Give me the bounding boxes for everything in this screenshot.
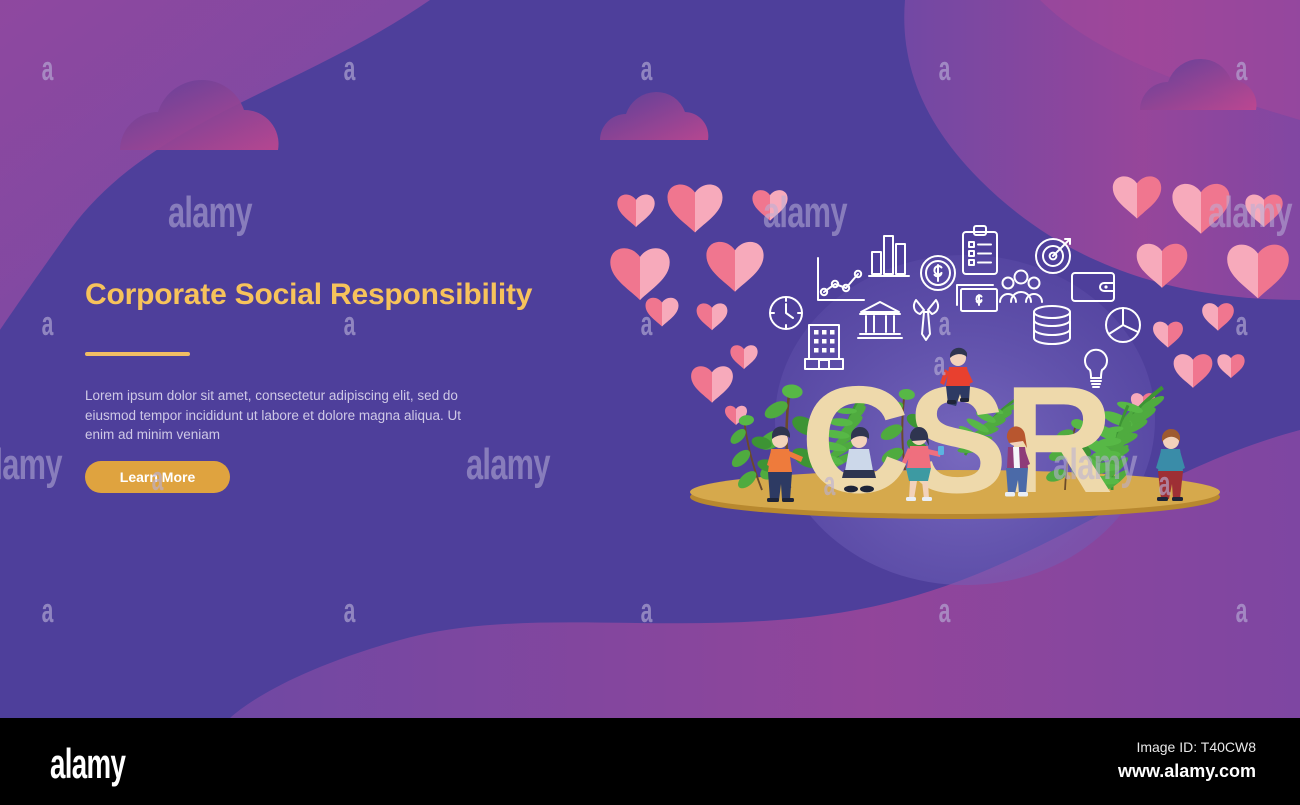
hero-paragraph: Lorem ipsum dolor sit amet, consectetur …	[85, 386, 465, 445]
banknote-icon	[957, 285, 997, 311]
pie-chart-icon	[1106, 308, 1140, 342]
hero-copy: Corporate Social Responsibility Lorem ip…	[85, 278, 605, 445]
learn-more-button[interactable]: Learn More	[85, 461, 230, 493]
hero-illustration: CSR	[0, 0, 1300, 718]
line-chart-icon	[818, 258, 864, 300]
people-group-icon	[1000, 271, 1042, 303]
alamy-footer-bar: alamy Image ID: T40CW8 www.alamy.com	[0, 718, 1300, 805]
target-dartboard-icon	[1036, 239, 1070, 273]
bar-chart-icon	[869, 236, 909, 276]
image-id-label: Image ID: T40CW8	[1016, 739, 1256, 755]
alamy-url: www.alamy.com	[1016, 761, 1256, 782]
bank-building-icon	[858, 302, 902, 338]
necktie-icon	[914, 300, 938, 340]
screenshot-root: CSR	[0, 0, 1300, 805]
clipboard-checklist-icon	[963, 226, 997, 274]
clock-icon	[770, 297, 802, 329]
dollar-coin-icon	[921, 256, 955, 290]
man-teal-shirt-standing	[1156, 429, 1185, 501]
title-divider	[85, 352, 190, 356]
wallet-icon	[1072, 273, 1114, 301]
alamy-logo: alamy	[50, 740, 125, 788]
page-title: Corporate Social Responsibility	[85, 278, 605, 312]
coin-stack-icon	[1034, 306, 1070, 344]
